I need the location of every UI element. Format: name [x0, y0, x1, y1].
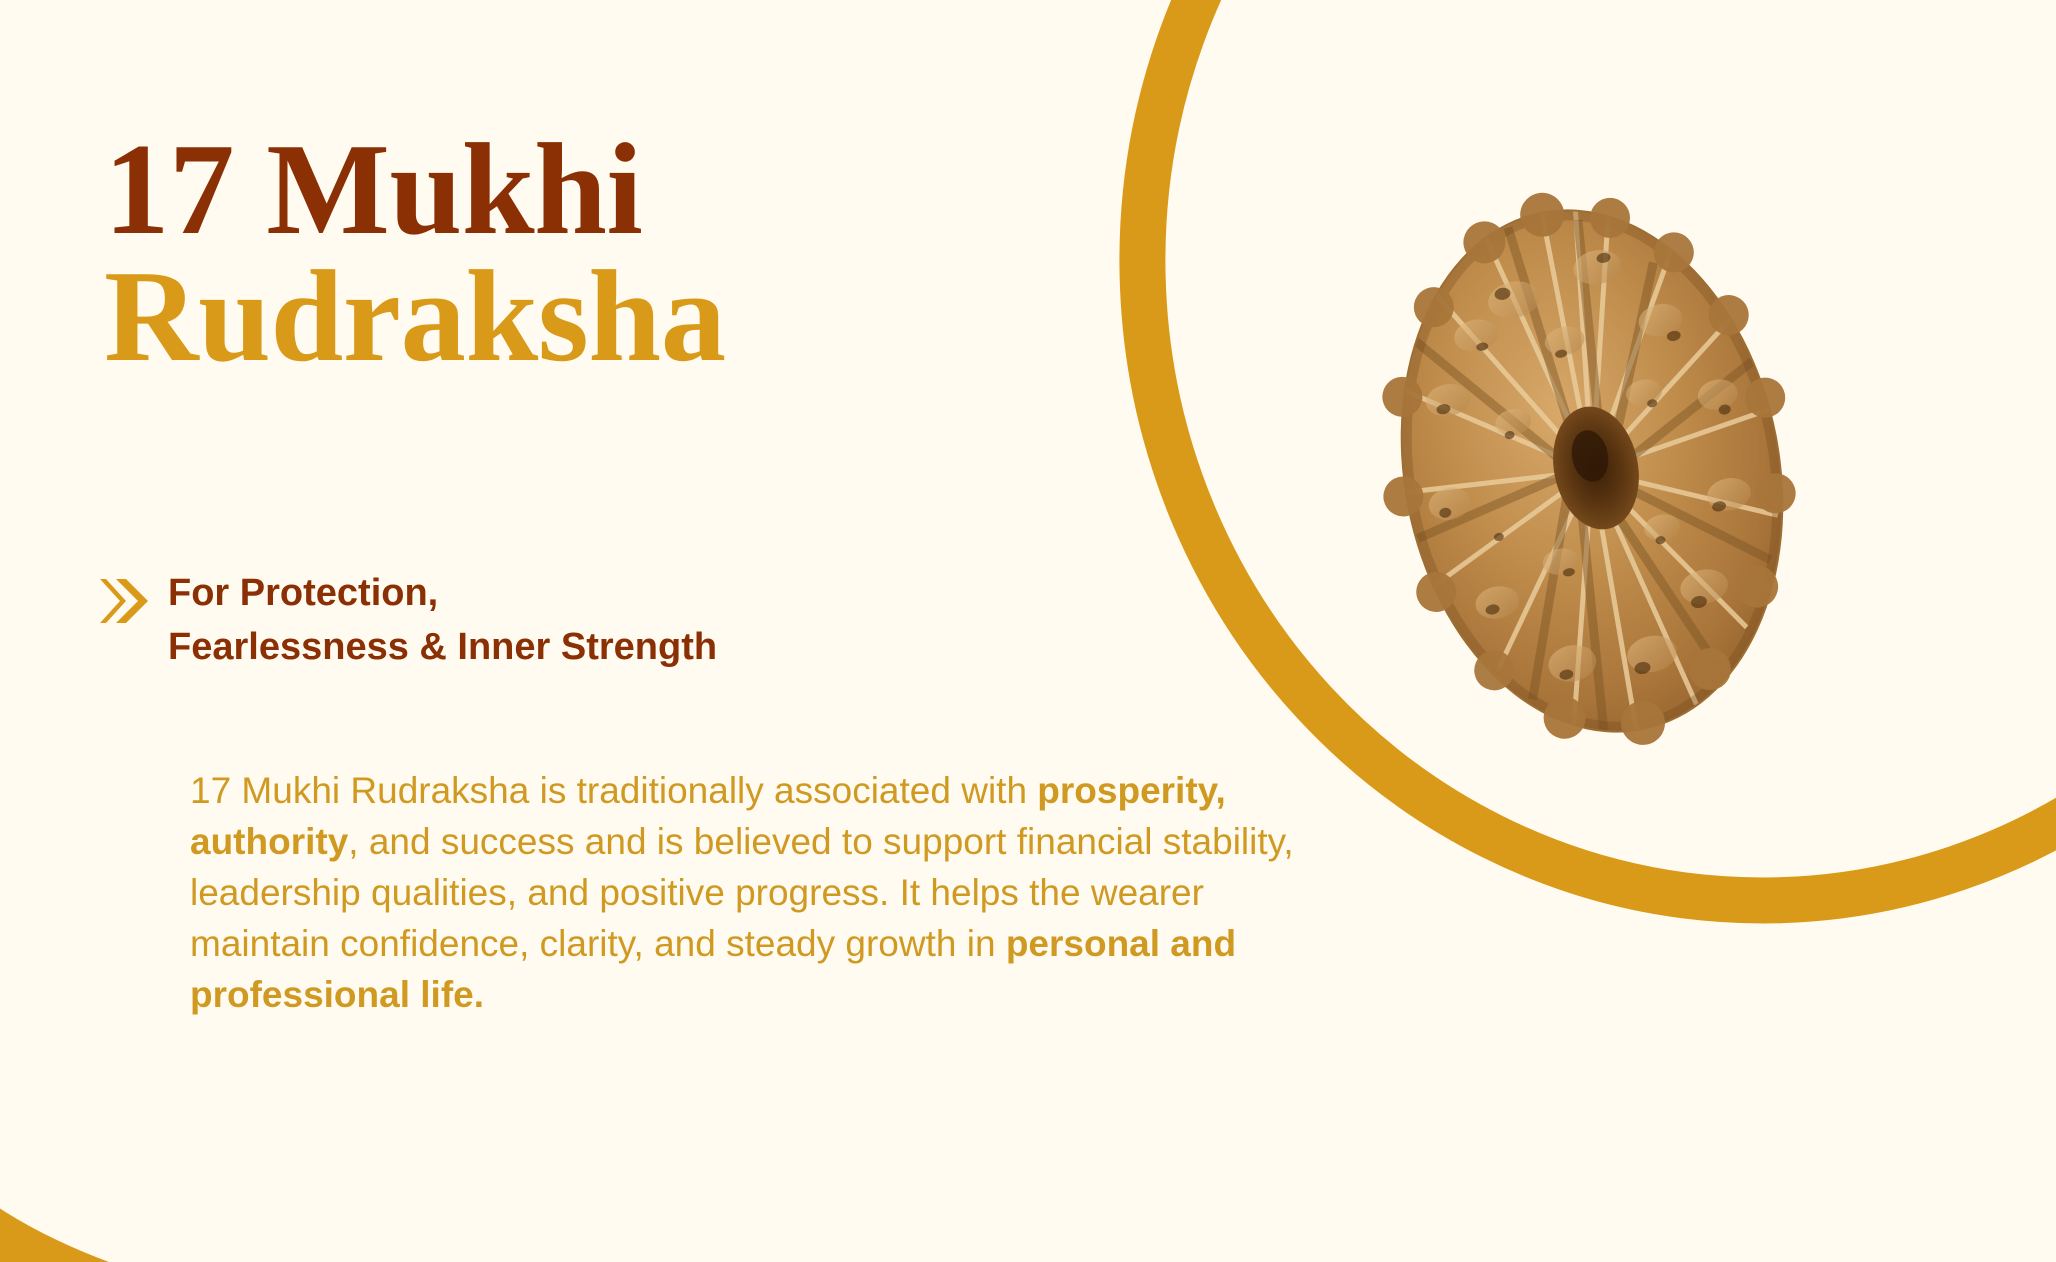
title-line-secondary: Rudraksha — [104, 253, 1204, 380]
content-column: 17 Mukhi Rudraksha For Protection, Fearl… — [0, 0, 1340, 1262]
subheading: For Protection, Fearlessness & Inner Str… — [96, 567, 717, 675]
subheading-text: For Protection, Fearlessness & Inner Str… — [168, 567, 717, 675]
page-title: 17 Mukhi Rudraksha — [104, 126, 1204, 380]
body-paragraph: 17 Mukhi Rudraksha is traditionally asso… — [190, 765, 1350, 1020]
title-line-primary: 17 Mukhi — [104, 126, 1204, 253]
subheading-line-1: For Protection, — [168, 567, 717, 621]
slide-canvas: 17 Mukhi Rudraksha For Protection, Fearl… — [0, 0, 2056, 1262]
double-chevron-right-icon — [96, 573, 152, 629]
body-segment-0: 17 Mukhi Rudraksha is traditionally asso… — [190, 770, 1037, 811]
rudraksha-bead-image — [1358, 168, 1826, 774]
subheading-line-2: Fearlessness & Inner Strength — [168, 621, 717, 675]
